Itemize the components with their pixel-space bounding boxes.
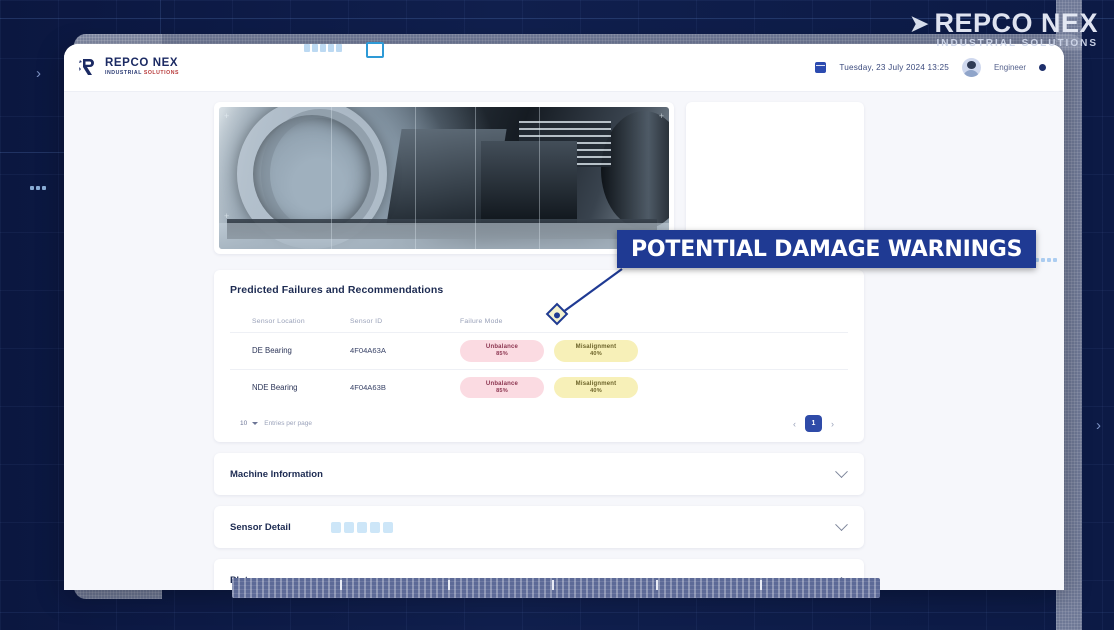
callout-text: POTENTIAL DAMAGE WARNINGS [631, 237, 1022, 262]
column-failure-mode: Failure Mode [460, 318, 848, 333]
overlay-line-4 [539, 107, 540, 249]
page-body: + + + Predicted Failures and Recommendat… [64, 92, 1064, 590]
panel-title: Predicted Failures and Recommendations [230, 284, 848, 296]
logo-sub-solutions: SOLUTIONS [144, 70, 179, 76]
overlay-plus-tr-icon: + [659, 112, 664, 121]
machine-part-cylinder [601, 111, 669, 229]
cell-sensor-id: 4F04A63A [350, 333, 460, 370]
next-page-button[interactable]: › [831, 419, 834, 429]
selection-box-highlight [366, 42, 384, 58]
page-1-button[interactable]: 1 [805, 415, 822, 432]
avatar[interactable] [962, 58, 981, 77]
footer-seg [552, 580, 554, 590]
logo-sub-industrial: INDUSTRIAL [105, 70, 144, 76]
tick-mark [328, 44, 334, 52]
app-header: REPCO NEX INDUSTRIAL SOLUTIONS Tuesday, … [64, 44, 1064, 92]
overlay-line-2 [415, 107, 416, 249]
tick-mark [320, 44, 326, 52]
footer-seg [656, 580, 658, 590]
failures-table: Sensor Location Sensor ID Failure Mode D… [230, 318, 848, 405]
accordion-title: Sensor Detail [230, 522, 291, 533]
dash [42, 186, 46, 190]
logo-subtitle: INDUSTRIAL SOLUTIONS [105, 71, 179, 76]
badge-group: Unbalance 85% Misalignment 40% [460, 377, 848, 399]
machine-part-base-block [481, 141, 577, 223]
user-role-label: Engineer [994, 63, 1026, 72]
deco-hline-top [0, 18, 1114, 19]
machine-floor [219, 223, 669, 249]
tick-mark [312, 44, 318, 52]
chevron-down-icon [252, 422, 258, 425]
accordion-machine-information[interactable]: Machine Information [214, 453, 864, 495]
deco-hline-left [0, 152, 74, 153]
deco-vline-a [160, 0, 161, 34]
footer-seg [760, 580, 762, 590]
pagination: ‹ 1 › [793, 415, 848, 432]
right-chevron-icon: › [1096, 418, 1101, 433]
cell-sensor-id: 4F04A63B [350, 369, 460, 405]
table-row[interactable]: NDE Bearing 4F04A63B Unbalance 85% Mi [230, 369, 848, 405]
badge-label: Misalignment [576, 381, 617, 387]
sensor-block [370, 522, 380, 533]
header-right-cluster: Tuesday, 23 July 2024 13:25 Engineer [815, 58, 1046, 77]
badge-percent: 40% [554, 388, 638, 396]
sensor-block [344, 522, 354, 533]
overlay-plus-tl-icon: + [224, 112, 229, 121]
chevron-down-icon[interactable] [835, 465, 848, 478]
badge-group: Unbalance 85% Misalignment 40% [460, 340, 848, 362]
badge-percent: 85% [460, 388, 544, 396]
overlay-plus-bl-icon: + [224, 212, 229, 221]
logo-title: REPCO NEX [105, 58, 179, 70]
footer-decoration-bar [232, 578, 880, 598]
badge-percent: 85% [460, 351, 544, 359]
column-sensor-location: Sensor Location [230, 318, 350, 333]
deco-dashes-right [1035, 258, 1057, 262]
dash [1041, 258, 1045, 262]
sensor-detail-blocks [331, 522, 393, 533]
repco-logo-icon [78, 58, 100, 76]
badge-percent: 40% [554, 351, 638, 359]
dash [36, 186, 40, 190]
calendar-icon [815, 62, 826, 73]
image-tick-marks [304, 44, 342, 52]
cell-failure-modes: Unbalance 85% Misalignment 40% [460, 369, 848, 405]
tick-mark [336, 44, 342, 52]
app-logo[interactable]: REPCO NEX INDUSTRIAL SOLUTIONS [78, 58, 179, 76]
table-footer: 10 Entries per page ‹ 1 › [230, 415, 848, 432]
dash [1047, 258, 1051, 262]
badge-label: Unbalance [486, 344, 518, 350]
accordion-sensor-detail[interactable]: Sensor Detail [214, 506, 864, 548]
entries-label: Entries per page [264, 420, 312, 427]
dash [1053, 258, 1057, 262]
callout-banner: POTENTIAL DAMAGE WARNINGS [617, 230, 1036, 268]
status-badge-unbalance[interactable]: Unbalance 85% [460, 377, 544, 399]
entries-value: 10 [240, 420, 247, 427]
overlay-line-1 [331, 107, 332, 249]
sensor-block [383, 522, 393, 533]
table-header-row: Sensor Location Sensor ID Failure Mode [230, 318, 848, 333]
cell-sensor-location: NDE Bearing [230, 369, 350, 405]
cell-sensor-location: DE Bearing [230, 333, 350, 370]
status-badge-misalignment[interactable]: Misalignment 40% [554, 340, 638, 362]
sensor-block [331, 522, 341, 533]
screen-root: › › ➤ REPCO NEX INDUSTRIAL SOLUTIONS REP… [0, 0, 1114, 630]
chevron-down-icon[interactable] [835, 518, 848, 531]
deco-dashes-left [30, 186, 46, 190]
table-row[interactable]: DE Bearing 4F04A63A Unbalance 85% Mis [230, 333, 848, 370]
cell-failure-modes: Unbalance 85% Misalignment 40% [460, 333, 848, 370]
badge-label: Unbalance [486, 381, 518, 387]
logo-text: REPCO NEX INDUSTRIAL SOLUTIONS [105, 58, 179, 76]
tick-mark [304, 44, 310, 52]
machine-image-card: + + + [214, 102, 674, 254]
footer-seg [340, 580, 342, 590]
predicted-failures-panel: Predicted Failures and Recommendations S… [214, 270, 864, 442]
footer-seg [448, 580, 450, 590]
machine-photo: + + + [219, 107, 669, 249]
accordion-title: Machine Information [230, 469, 323, 480]
entries-per-page-control[interactable]: 10 Entries per page [230, 420, 312, 427]
badge-label: Misalignment [576, 344, 617, 350]
status-badge-misalignment[interactable]: Misalignment 40% [554, 377, 638, 399]
header-menu-dot-icon[interactable] [1039, 64, 1046, 71]
sensor-block [357, 522, 367, 533]
left-chevron-icon: › [36, 66, 41, 81]
deco-hline-bottom [0, 612, 1114, 613]
prev-page-button[interactable]: ‹ [793, 419, 796, 429]
status-badge-unbalance[interactable]: Unbalance 85% [460, 340, 544, 362]
header-datetime: Tuesday, 23 July 2024 13:25 [839, 63, 949, 72]
entries-select[interactable]: 10 [240, 420, 258, 427]
dash [30, 186, 34, 190]
overlay-line-3 [475, 107, 476, 249]
column-sensor-id: Sensor ID [350, 318, 460, 333]
